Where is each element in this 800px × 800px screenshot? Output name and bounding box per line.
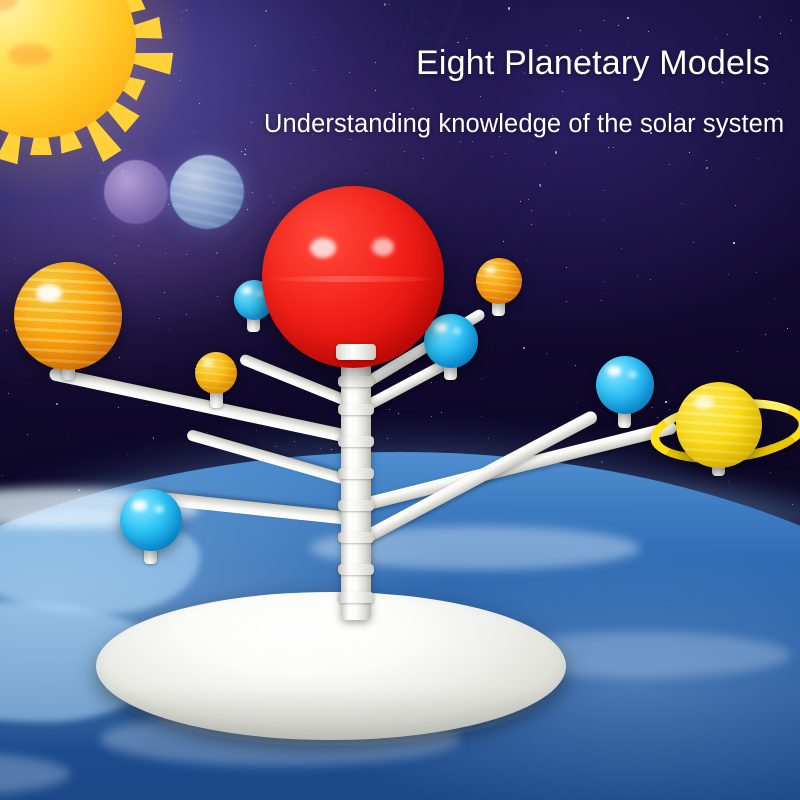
planet-venus: [476, 258, 522, 304]
sun-mount-collar: [336, 344, 376, 360]
model-sun-seam: [266, 276, 440, 282]
planet-mars: [195, 352, 237, 394]
product-image-scene: Eight Planetary Models Understanding kno…: [0, 0, 800, 800]
arm-saturn: [354, 420, 677, 512]
arm-neptune: [353, 409, 599, 548]
planet-jupiter: [14, 262, 122, 370]
eight-planet-solar-system-model: [0, 0, 800, 800]
planet-saturn: [676, 382, 762, 468]
model-center-column: [341, 336, 371, 620]
planet-earth: [424, 314, 478, 368]
planet-neptune: [596, 356, 654, 414]
model-base-rim: [96, 598, 566, 746]
planet-uranus: [120, 489, 182, 551]
